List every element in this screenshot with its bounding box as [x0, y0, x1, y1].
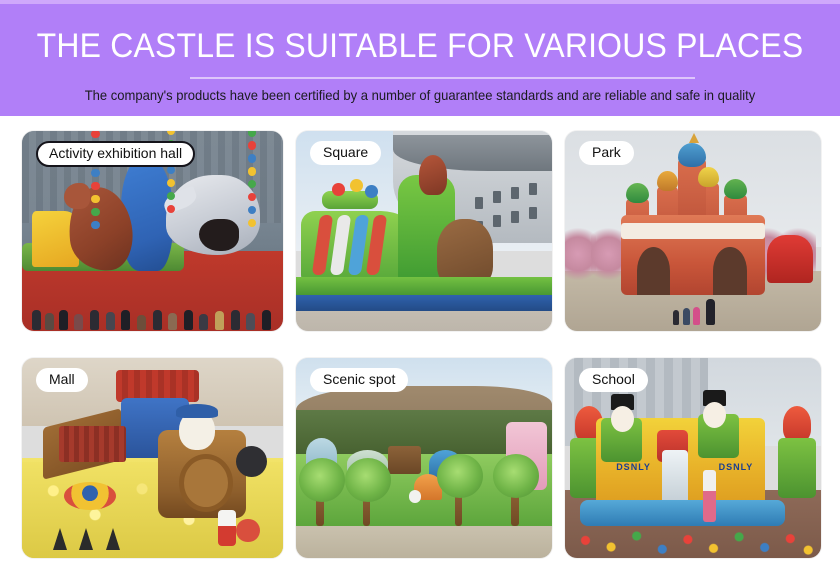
gallery-item-label: Mall: [36, 368, 88, 392]
page-subtitle: The company's products have been certifi…: [29, 86, 810, 104]
gallery-item-school[interactable]: DSNLY DSNLY School: [565, 358, 821, 558]
gallery-item-label: Square: [310, 141, 381, 165]
promo-page: THE CASTLE IS SUITABLE FOR VARIOUS PLACE…: [0, 0, 840, 583]
gallery-item-label: School: [579, 368, 648, 392]
banner-top-strip: [0, 0, 840, 4]
gallery-item-park[interactable]: Park: [565, 131, 821, 331]
gallery-item-label: Scenic spot: [310, 368, 408, 392]
page-title: THE CASTLE IS SUITABLE FOR VARIOUS PLACE…: [25, 26, 815, 66]
gallery-item-activity-exhibition-hall[interactable]: Activity exhibition hall: [22, 131, 283, 331]
gallery-item-scenic-spot[interactable]: Scenic spot: [296, 358, 552, 558]
castle-logo-right: DSNLY: [719, 462, 754, 472]
title-divider: [190, 77, 695, 79]
gallery-item-label: Park: [579, 141, 634, 165]
gallery-item-mall[interactable]: Mall: [22, 358, 283, 558]
castle-logo-left: DSNLY: [616, 462, 651, 472]
gallery-grid: Activity exhibition hall: [22, 131, 818, 559]
header-banner: THE CASTLE IS SUITABLE FOR VARIOUS PLACE…: [0, 0, 840, 116]
gallery-item-label: Activity exhibition hall: [36, 141, 195, 167]
gallery-item-square[interactable]: Square: [296, 131, 552, 331]
